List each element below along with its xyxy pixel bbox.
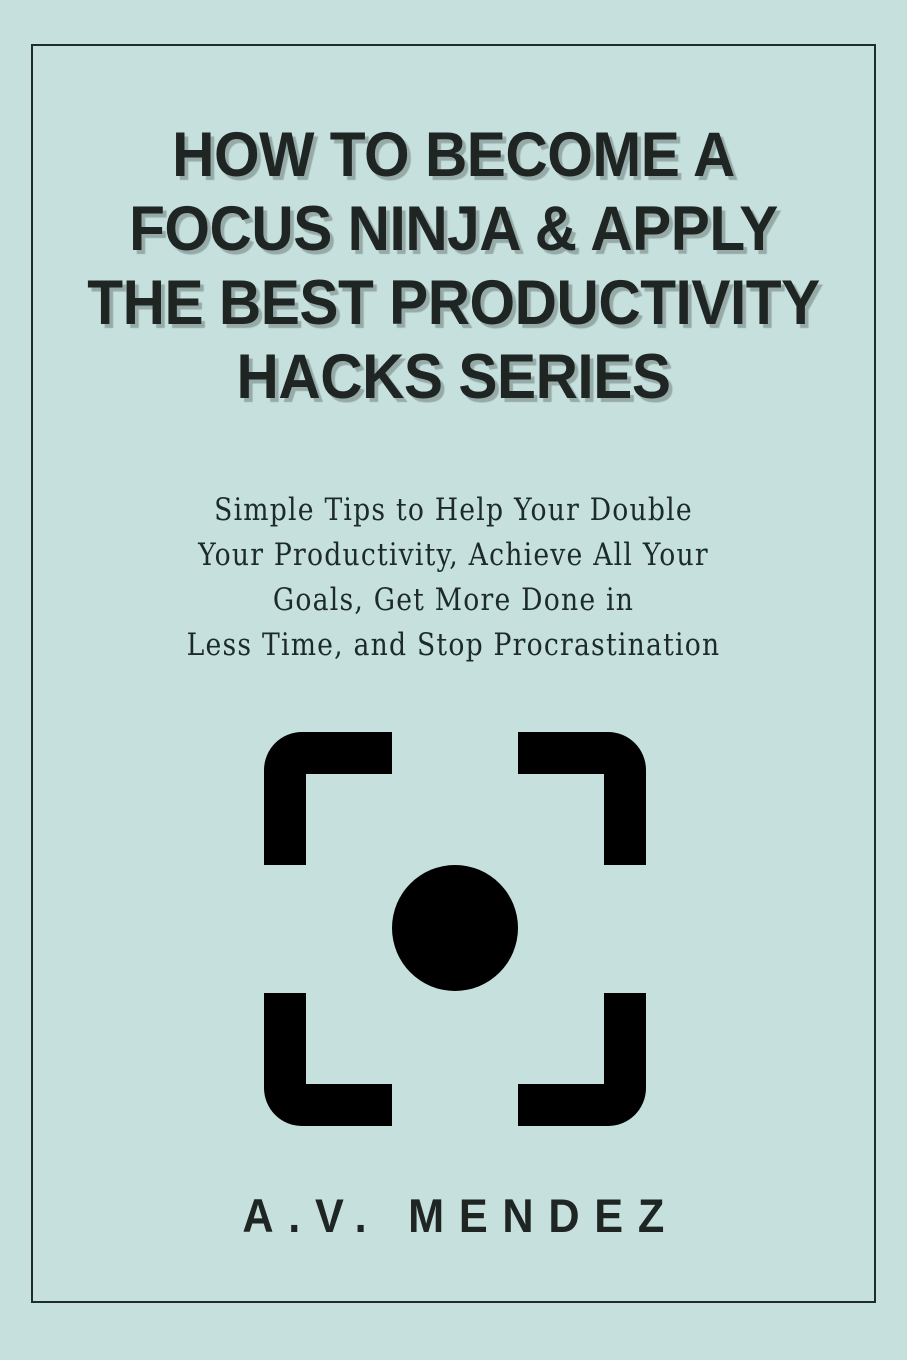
- title-line-4: HACKS SERIES: [32, 340, 876, 414]
- title-line-3: THE BEST PRODUCTIVITY: [32, 266, 876, 340]
- subtitle-line-1: Simple Tips to Help Your Double: [63, 488, 843, 533]
- focus-viewfinder-icon: [264, 732, 646, 1126]
- subtitle-line-4: Less Time, and Stop Procrastination: [63, 623, 843, 668]
- title-line-2: FOCUS NINJA & APPLY: [32, 192, 876, 266]
- subtitle-line-3: Goals, Get More Done in: [63, 578, 843, 623]
- subtitle-line-2: Your Productivity, Achieve All Your: [63, 533, 843, 578]
- book-cover: HOW TO BECOME A FOCUS NINJA & APPLY THE …: [0, 0, 907, 1360]
- title-line-1: HOW TO BECOME A: [32, 118, 876, 192]
- book-subtitle: Simple Tips to Help Your Double Your Pro…: [0, 488, 907, 668]
- author-name: A.V. MENDEZ: [228, 1188, 679, 1243]
- book-title: HOW TO BECOME A FOCUS NINJA & APPLY THE …: [0, 118, 907, 414]
- book-author: A.V. MENDEZ: [0, 1188, 907, 1243]
